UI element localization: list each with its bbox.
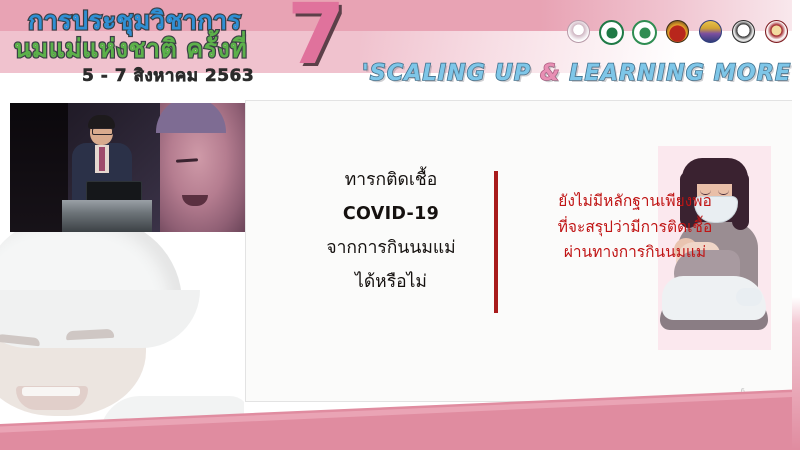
tagline-ampersand: & [540, 61, 560, 86]
royal-college-icon [699, 20, 722, 43]
screenshot-root: การประชุมวิชาการ นมแม่แห่งชาติ ครั้งที่ … [0, 0, 800, 450]
sponsor-logo-row: สสส สสส Thai Health [565, 20, 800, 51]
royal-patronage-icon [567, 20, 590, 43]
question-line-4: ได้หรือไม่ [296, 265, 486, 299]
answer-line-1: ยังไม่มีหลักฐานเพียงพอ [504, 189, 766, 215]
ministry-of-public-health-logo [598, 20, 625, 51]
breastfeeding-centre-icon [666, 20, 689, 43]
royal-patronage-logo [565, 20, 592, 51]
conference-tagline: 'SCALING UP & LEARNING MORE' [362, 61, 799, 86]
child-shoulder [100, 396, 244, 423]
right-edge-strip [792, 0, 800, 450]
slide-question-text: ทารกติดเชื้อ COVID-19 จากการกินนมแม่ ได้… [296, 163, 486, 300]
question-line-1: ทารกติดเชื้อ [296, 163, 486, 197]
baby-eye [176, 158, 198, 163]
conference-banner: การประชุมวิชาการ นมแม่แห่งชาติ ครั้งที่ … [0, 0, 800, 97]
department-health-icon [632, 20, 657, 45]
speaker-glasses [92, 128, 113, 135]
baby-mouth [182, 195, 208, 206]
podium [62, 200, 152, 232]
conference-edition-number: 7 [287, 0, 345, 76]
vertical-divider [494, 171, 498, 313]
tagline-part-after: LEARNING MORE' [561, 61, 800, 86]
ministry-health-icon [599, 20, 624, 45]
slide-answer-text: ยังไม่มีหลักฐานเพียงพอ ที่จะสรุปว่ามีการ… [504, 189, 766, 266]
medical-council-icon [765, 20, 788, 43]
answer-line-2: ที่จะสรุปว่ามีการติดเชื้อ [504, 215, 766, 241]
conference-date-range: 5 - 7 สิงหาคม 2563 [82, 62, 254, 89]
baby-foot [736, 288, 762, 306]
child-teeth [22, 387, 80, 396]
answer-line-3: ผ่านทางการกินนมแม่ [504, 240, 766, 266]
stage-dark-panel [10, 103, 68, 232]
thai-breastfeeding-centre-logo [664, 20, 691, 51]
speaker-presentation-thumbnail[interactable] [10, 103, 245, 232]
speaker-tie [99, 147, 105, 171]
university-emblem-logo [730, 20, 757, 51]
slide-page-number: 6 [741, 387, 745, 395]
medical-council-logo [763, 20, 790, 51]
presentation-slide[interactable]: ทารกติดเชื้อ COVID-19 จากการกินนมแม่ ได้… [245, 100, 794, 402]
baby-hat [156, 103, 226, 133]
smiling-child-photo [0, 218, 244, 423]
university-emblem-icon [732, 20, 755, 43]
baby-closeup-image [160, 103, 245, 232]
royal-college-logo [697, 20, 724, 51]
department-of-health-logo [631, 20, 658, 51]
tagline-part-before: 'SCALING UP [362, 61, 540, 86]
question-line-2: COVID-19 [296, 197, 486, 231]
question-line-3: จากการกินนมแม่ [296, 231, 486, 265]
speaker-hair [88, 115, 115, 129]
